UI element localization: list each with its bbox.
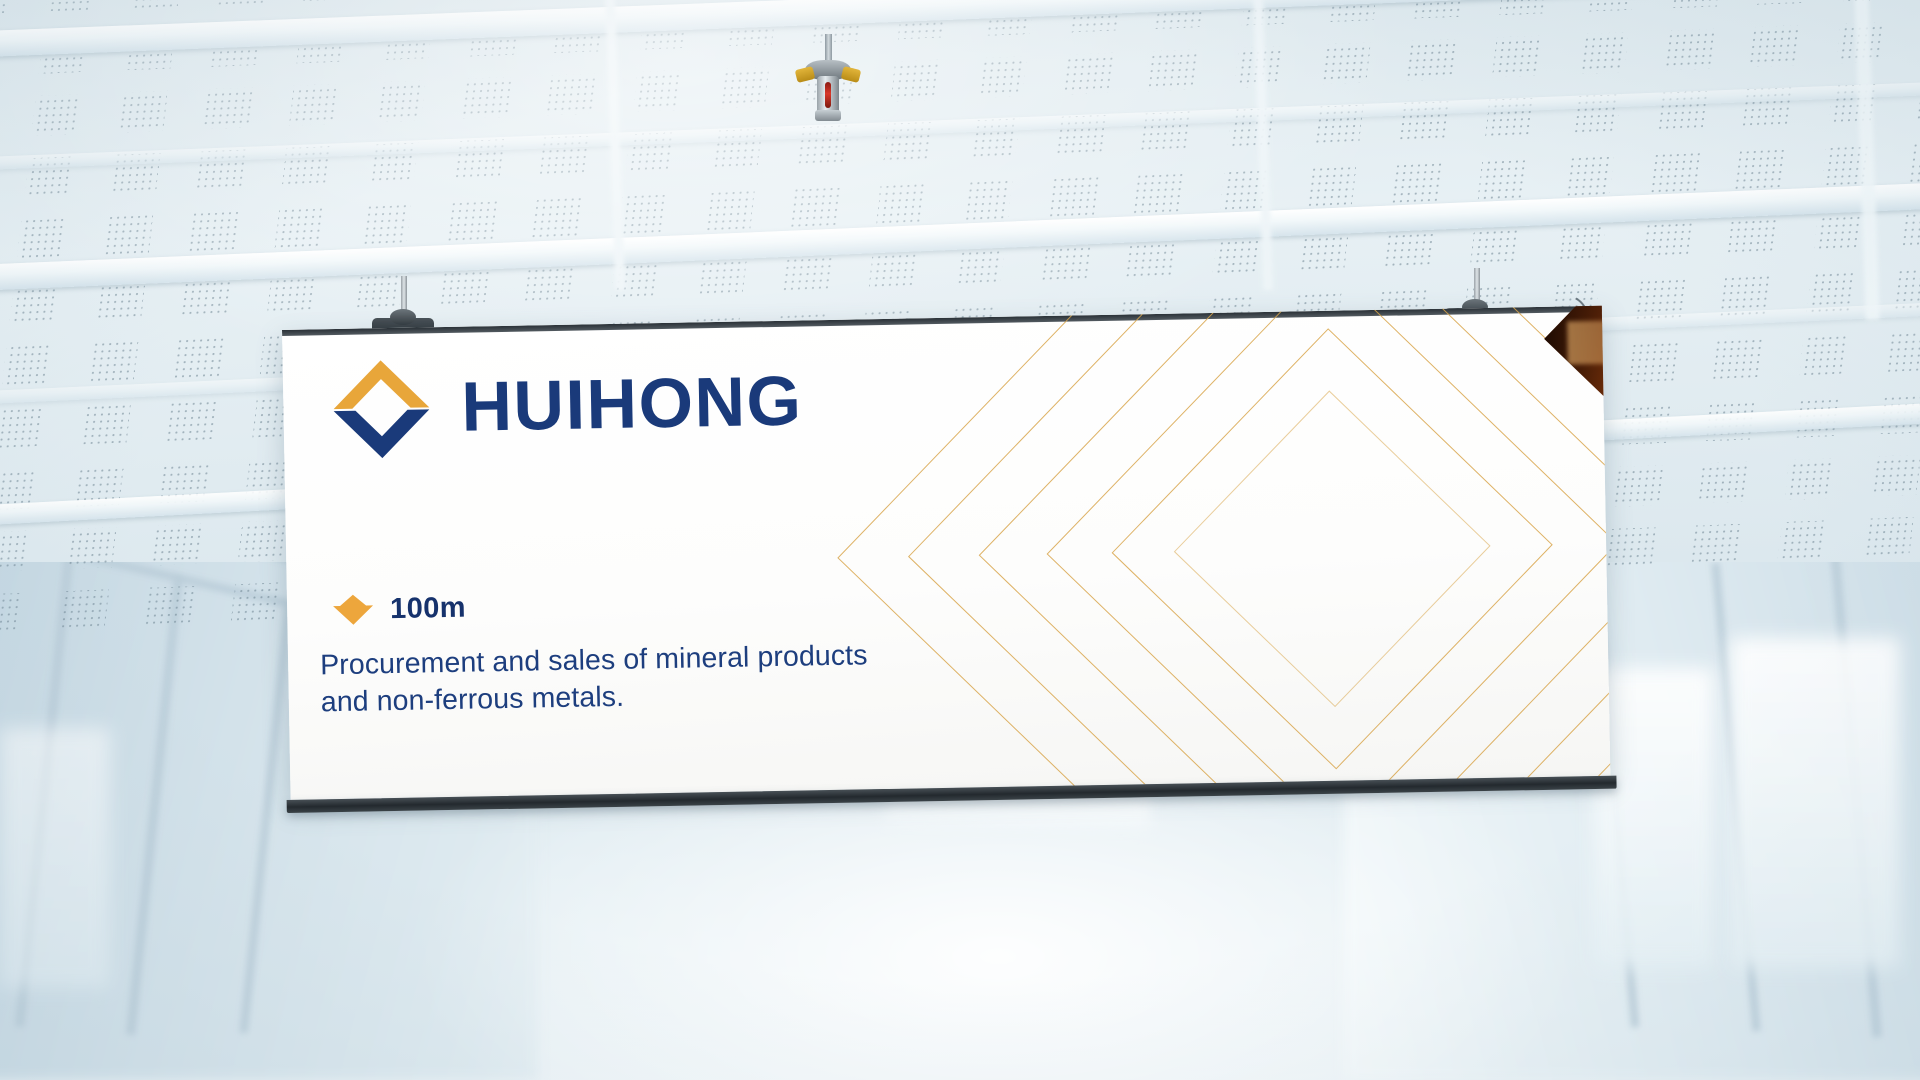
scene-root: HUIHONG 100m Procurement and sales of mi… [0,0,1920,1080]
metric-value: 100m [390,591,466,625]
banner-tagline: Procurement and sales of mineral product… [320,636,941,721]
sprinkler-cap [815,110,841,121]
sprinkler-arm-right [841,66,862,83]
huihong-diamond-logo [329,355,435,461]
concentric-gold-diamonds [966,306,1611,800]
brand-wordmark: HUIHONG [461,365,803,441]
metric-block: 100m [333,591,466,627]
sprinkler-arm-left [795,66,816,83]
fire-sprinkler-head [797,34,859,130]
orange-diamond-bullet-icon [333,592,374,627]
brand-logo[interactable]: HUIHONG [329,348,804,461]
hanging-banner-sign[interactable]: HUIHONG 100m Procurement and sales of mi… [282,306,1610,800]
sprinkler-glass-bulb [825,82,831,108]
banner-face: HUIHONG 100m Procurement and sales of mi… [282,306,1610,800]
